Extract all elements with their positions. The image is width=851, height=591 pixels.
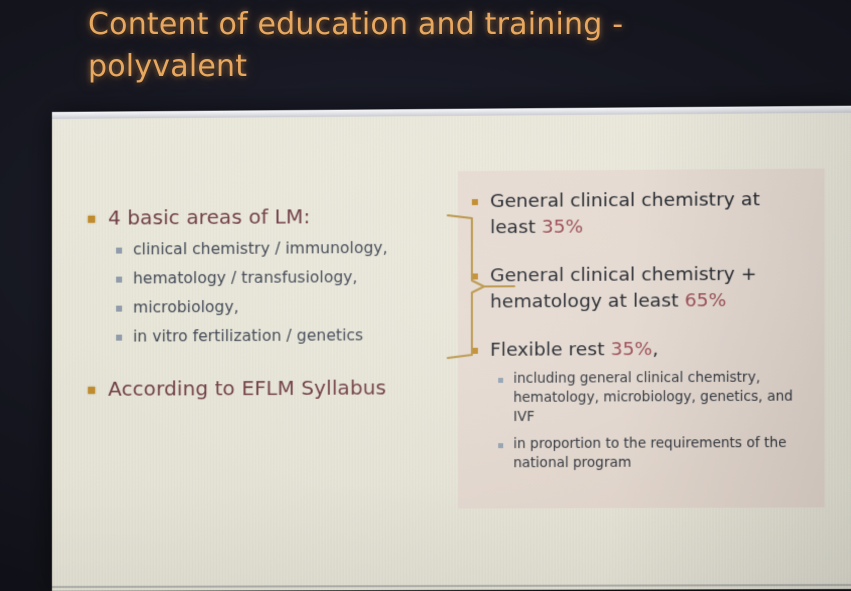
- right-item-text: Flexible rest 35%,: [490, 337, 658, 364]
- square-bullet-icon: [498, 443, 503, 448]
- right-item-row: General clinical chemistry + hematology …: [472, 261, 804, 315]
- right-item-group: Flexible rest 35%, including general cli…: [472, 336, 804, 473]
- right-item-text: General clinical chemistry at least 35%: [490, 187, 804, 241]
- left-heading-text: 4 basic areas of LM:: [108, 202, 310, 231]
- right-item-highlight: 65%: [685, 290, 727, 311]
- list-item: in vitro fertilization / genetics: [116, 323, 440, 349]
- slide-surface: 4 basic areas of LM: clinical chemistry …: [52, 106, 851, 591]
- right-sub-item-label: including general clinical chemistry, he…: [513, 368, 804, 427]
- left-sub-item-label: clinical chemistry / immunology,: [133, 236, 388, 262]
- right-item-highlight: 35%: [611, 339, 653, 360]
- square-bullet-icon: [498, 378, 503, 383]
- left-sub-item-label: in vitro fertilization / genetics: [133, 323, 363, 348]
- right-item-highlight: 35%: [542, 216, 584, 237]
- square-bullet-icon: [116, 248, 122, 254]
- square-bullet-icon: [116, 306, 122, 312]
- right-item-text: General clinical chemistry + hematology …: [490, 261, 804, 315]
- slide-title-line-2: polyvalent: [88, 46, 748, 88]
- square-bullet-icon: [472, 273, 478, 279]
- slide-title: Content of education and training - poly…: [88, 4, 748, 88]
- list-item: clinical chemistry / immunology,: [116, 236, 440, 262]
- right-item-text-before: Flexible rest: [490, 339, 610, 361]
- right-sub-item-label: in proportion to the requirements of the…: [513, 434, 804, 473]
- right-item-row: Flexible rest 35%,: [472, 336, 804, 364]
- left-sub-list: clinical chemistry / immunology, hematol…: [116, 236, 440, 349]
- slide-content: 4 basic areas of LM: clinical chemistry …: [52, 106, 851, 591]
- right-column: General clinical chemistry at least 35% …: [458, 168, 825, 508]
- square-bullet-icon: [472, 199, 478, 205]
- right-sub-list: including general clinical chemistry, he…: [498, 368, 804, 473]
- slide-title-line-1: Content of education and training -: [88, 4, 748, 46]
- list-item: in proportion to the requirements of the…: [498, 434, 804, 473]
- left-column: 4 basic areas of LM: clinical chemistry …: [88, 201, 440, 408]
- left-heading-row: 4 basic areas of LM:: [88, 201, 440, 231]
- square-bullet-icon: [472, 348, 478, 354]
- right-item-text-before: General clinical chemistry at least: [490, 189, 760, 238]
- list-item: including general clinical chemistry, he…: [498, 368, 804, 427]
- projected-slide-photo: Content of education and training - poly…: [0, 0, 851, 591]
- right-item-text-after: ,: [652, 339, 658, 360]
- list-item: microbiology,: [116, 294, 440, 320]
- left-footer-text: According to EFLM Syllabus: [108, 373, 386, 402]
- left-sub-item-label: hematology / transfusiology,: [133, 265, 357, 290]
- square-bullet-icon: [88, 216, 95, 223]
- list-item: hematology / transfusiology,: [116, 265, 440, 291]
- right-item-row: General clinical chemistry at least 35%: [472, 187, 804, 242]
- left-footer-row: According to EFLM Syllabus: [88, 373, 440, 403]
- square-bullet-icon: [116, 335, 122, 341]
- square-bullet-icon: [116, 277, 122, 283]
- left-sub-item-label: microbiology,: [133, 295, 239, 320]
- square-bullet-icon: [88, 387, 95, 394]
